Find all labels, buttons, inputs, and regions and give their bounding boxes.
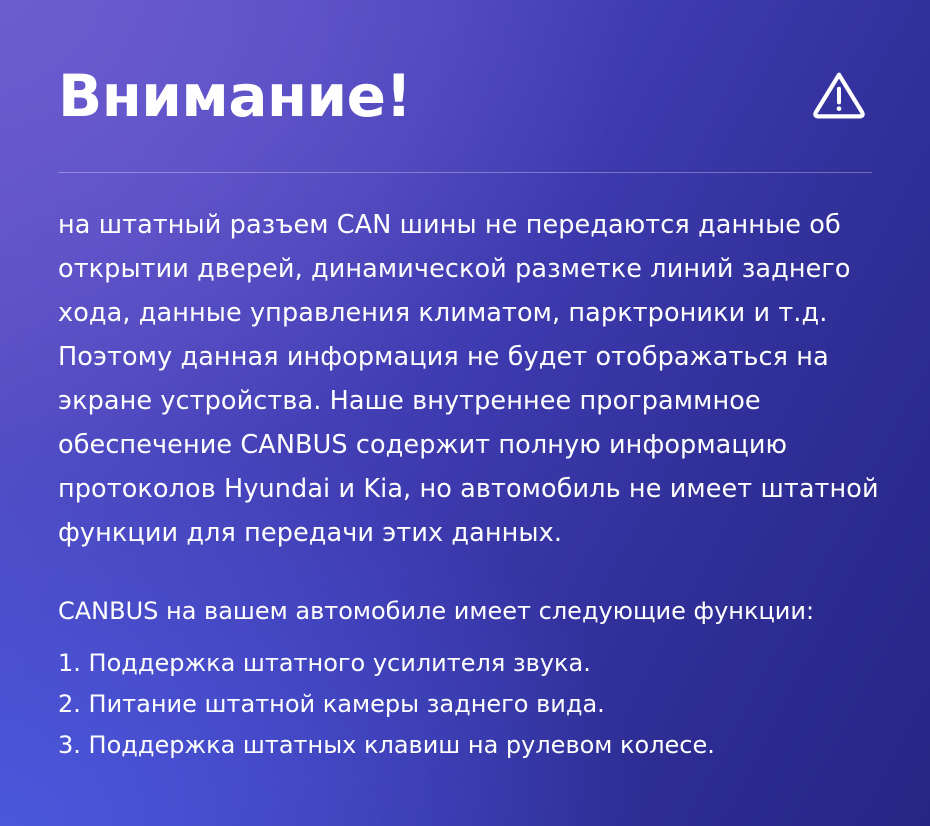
features-intro: CANBUS на вашем автомобиле имеет следующ… — [58, 591, 880, 631]
list-item: 3. Поддержка штатных клавиш на рулевом к… — [58, 725, 880, 766]
list-item: 1. Поддержка штатного усилителя звука. — [58, 643, 880, 684]
warning-paragraph: на штатный разъем CAN шины не передаются… — [58, 203, 880, 555]
page-title: Внимание! — [58, 67, 411, 125]
warning-triangle-icon — [810, 67, 868, 125]
banner-content: на штатный разъем CAN шины не передаются… — [58, 203, 880, 766]
features-block: CANBUS на вашем автомобиле имеет следующ… — [58, 591, 880, 766]
warning-banner: Внимание! на штатный разъем CAN шины не … — [0, 0, 930, 826]
header-divider — [58, 172, 872, 173]
features-list: 1. Поддержка штатного усилителя звука. 2… — [58, 643, 880, 766]
list-item: 2. Питание штатной камеры заднего вида. — [58, 684, 880, 725]
banner-header: Внимание! — [58, 48, 872, 144]
